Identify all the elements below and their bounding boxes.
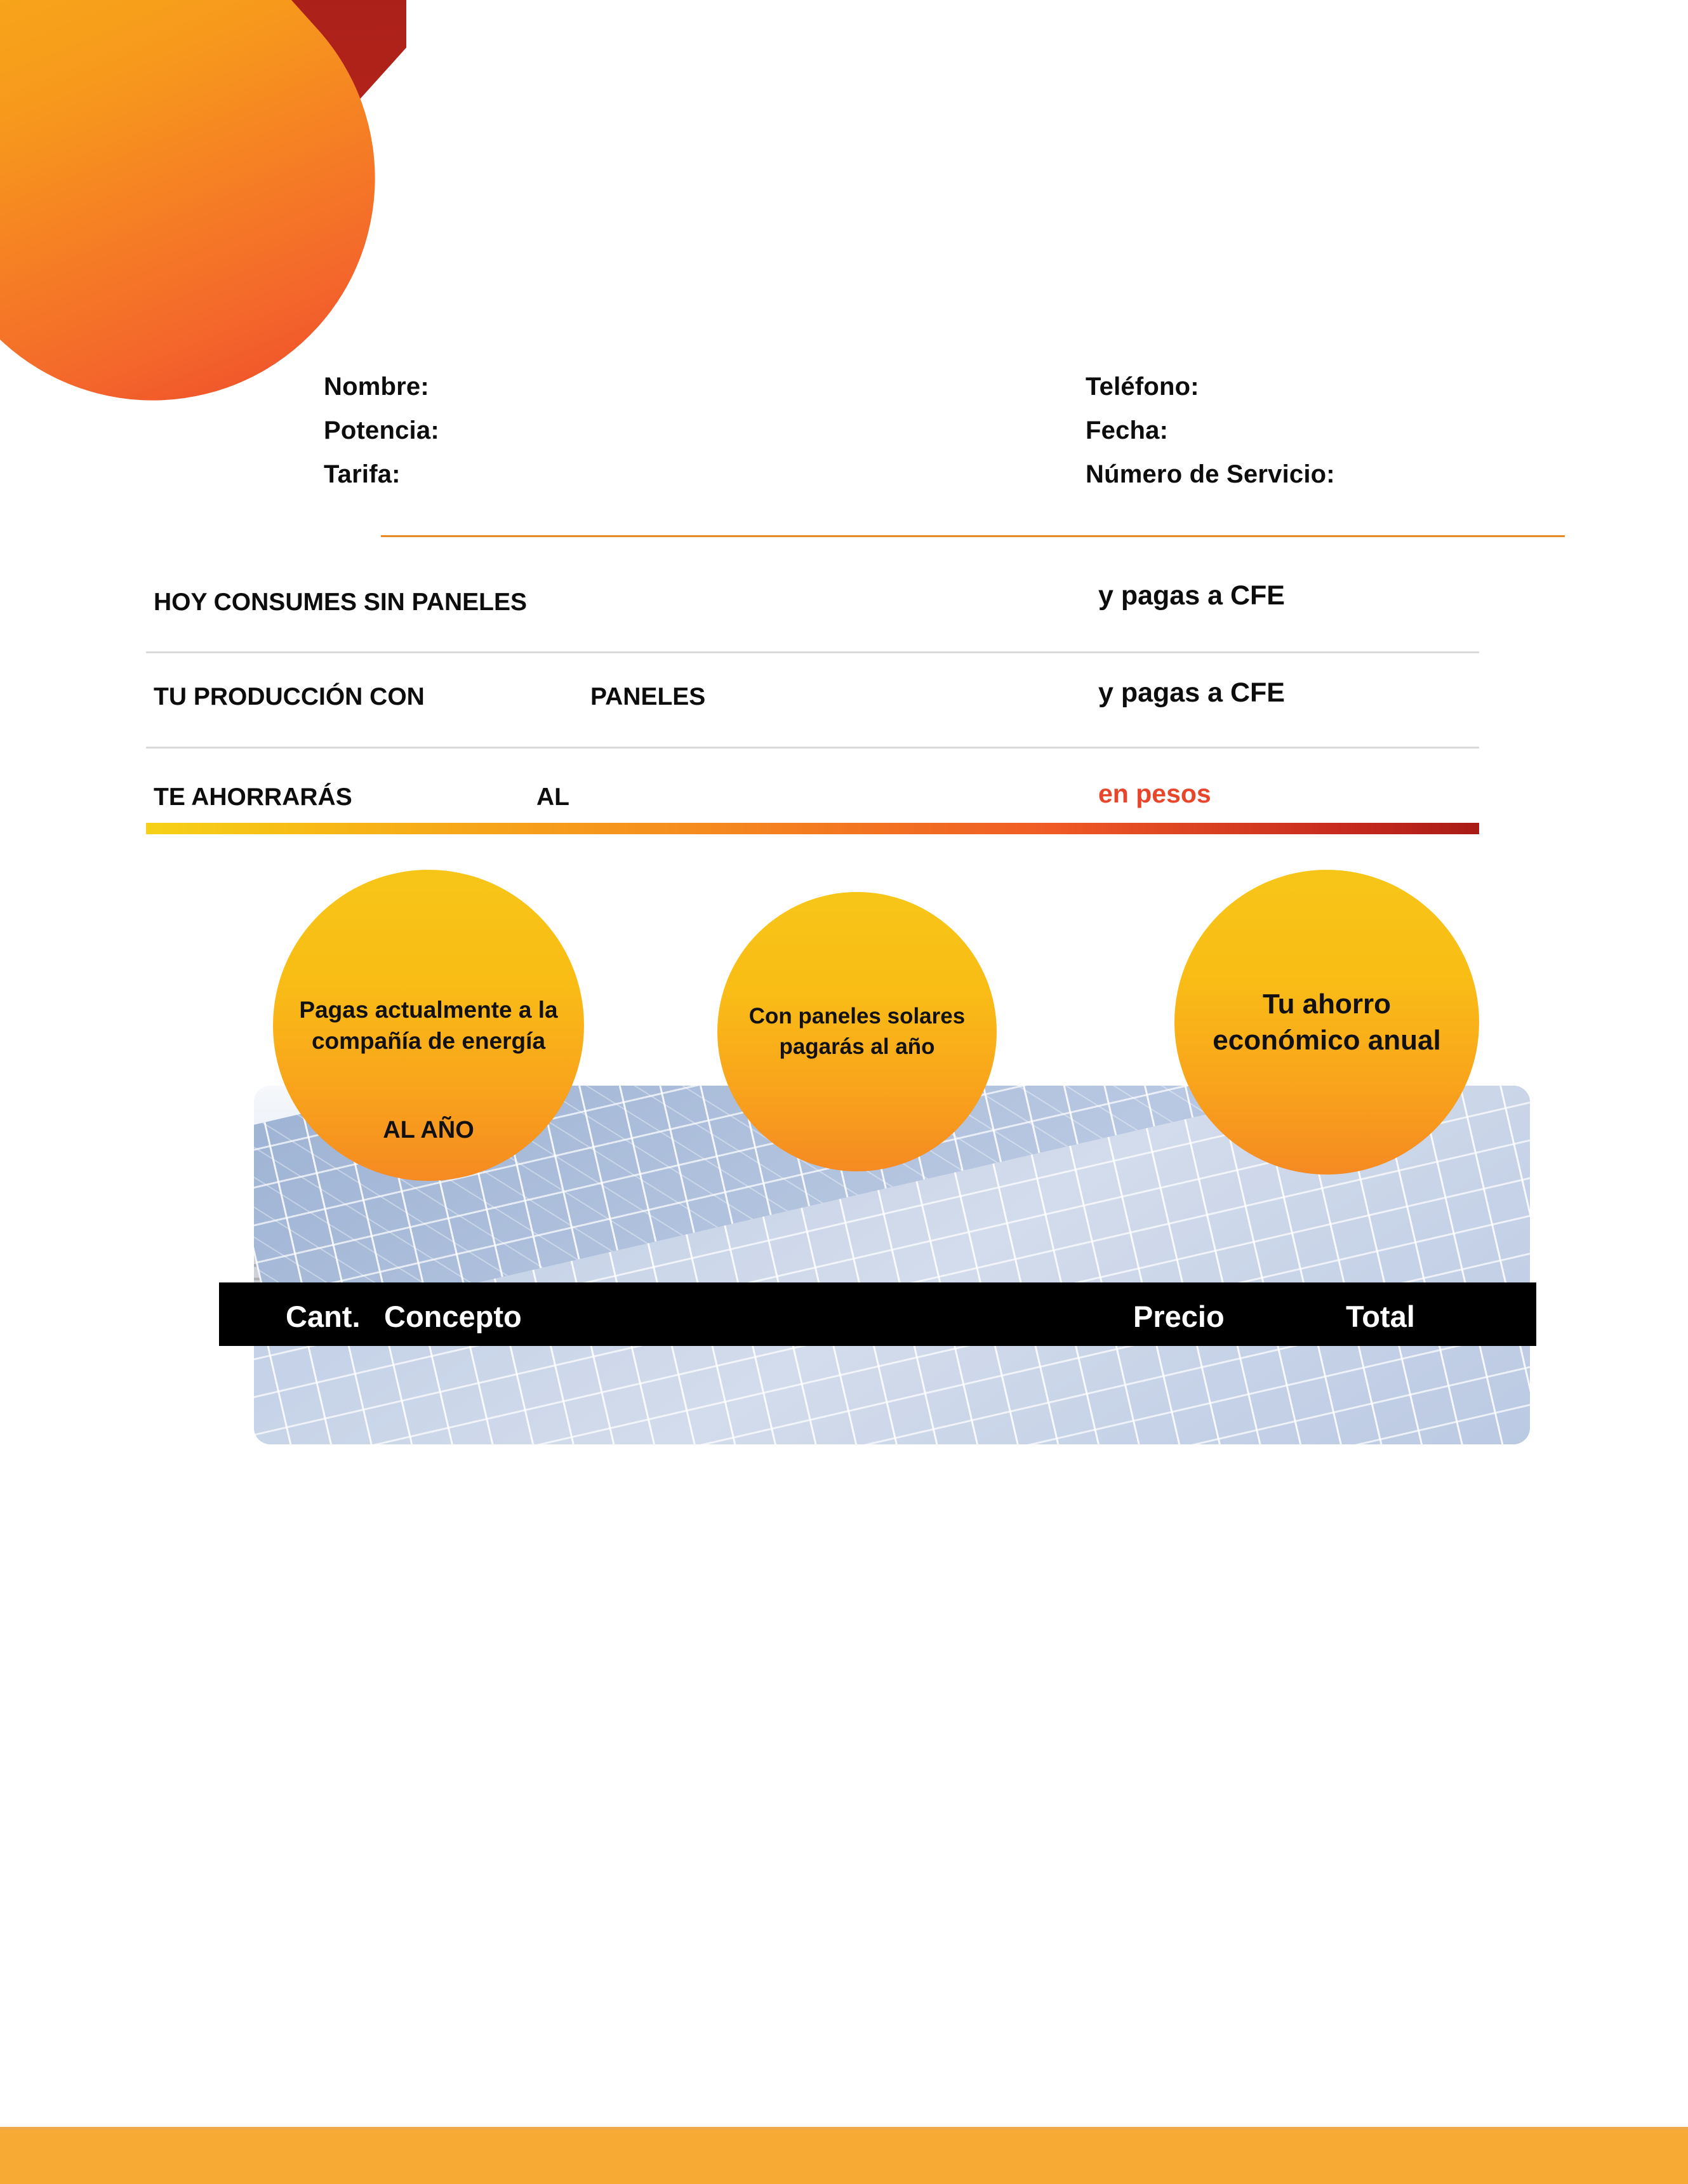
footer-bar [0,2127,1688,2184]
field-label-nombre: Nombre: [324,365,439,409]
field-label-fecha: Fecha: [1086,409,1335,453]
row3-middle-label: AL [536,783,569,811]
row2-label: TU PRODUCCIÓN CON [154,683,425,711]
bubble-tu-ahorro: Tu ahorro económico anual [1174,870,1479,1175]
field-label-potencia: Potencia: [324,409,439,453]
bubble-3-text: Tu ahorro económico anual [1174,986,1479,1058]
comparison-rows: HOY CONSUMES SIN PANELES y pagas a CFE T… [146,559,1543,831]
column-header-concepto: Concepto [384,1299,522,1334]
header-divider-rule [381,535,1565,537]
comparison-row-consumo: HOY CONSUMES SIN PANELES y pagas a CFE [146,559,1543,653]
column-header-total: Total [1346,1299,1415,1334]
comparison-row-ahorro: TE AHORRARÁS AL en pesos [146,749,1543,831]
field-label-tarifa: Tarifa: [324,453,439,496]
field-label-numero-de-servicio: Número de Servicio: [1086,453,1335,496]
column-header-precio: Precio [1133,1299,1225,1334]
row3-right-note: en pesos [1098,779,1211,809]
media-block: Pagas actualmente a la compañía de energ… [254,870,1530,1444]
column-header-cant: Cant. [286,1299,361,1334]
bubble-1-subtext: AL AÑO [273,1114,584,1146]
row3-label: TE AHORRARÁS [154,783,352,811]
header-right-column: Teléfono: Fecha: Número de Servicio: [1086,365,1335,496]
header-left-column: Nombre: Potencia: Tarifa: [324,365,439,496]
comparison-row-produccion: TU PRODUCCIÓN CON PANELES y pagas a CFE [146,653,1543,749]
row2-middle-label: PANELES [590,683,705,711]
row2-right-note: y pagas a CFE [1098,677,1285,709]
bubble-con-paneles: Con paneles solares pagarás al año [717,892,997,1171]
row1-label: HOY CONSUMES SIN PANELES [154,589,527,616]
gradient-divider-bar [146,823,1479,834]
field-label-telefono: Teléfono: [1086,365,1335,409]
bubble-1-text: Pagas actualmente a la compañía de energ… [273,994,584,1056]
bubble-2-text: Con paneles solares pagarás al año [717,1001,997,1062]
quote-table-header: Cant. Concepto Precio Total [219,1282,1536,1346]
row1-right-note: y pagas a CFE [1098,580,1285,611]
corner-decoration [0,0,406,584]
